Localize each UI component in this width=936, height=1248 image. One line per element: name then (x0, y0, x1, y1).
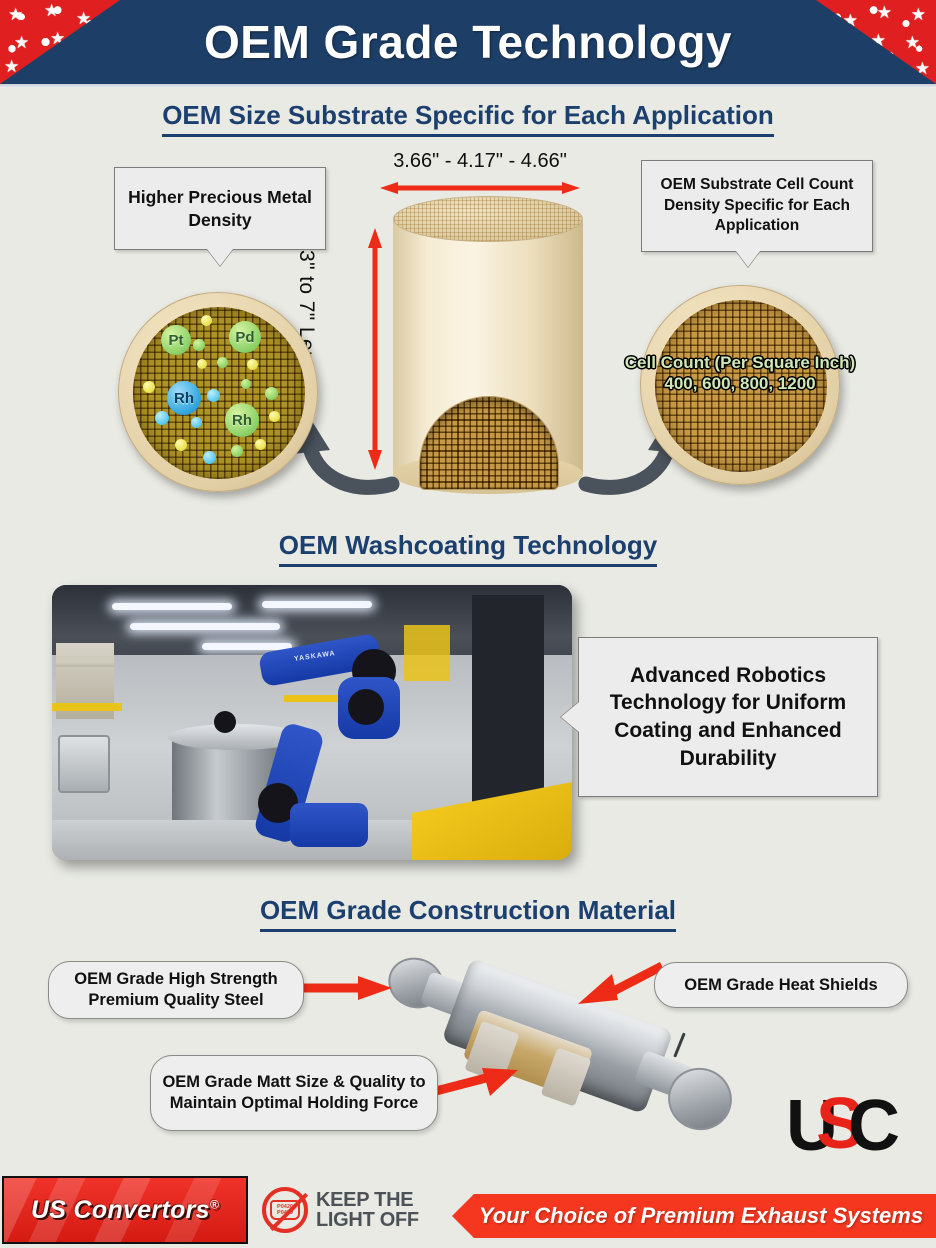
callout-tail (736, 251, 760, 267)
particle-dot (269, 411, 280, 422)
particle-dot (175, 439, 187, 451)
us-convertors-logo: US Convertors® (2, 1176, 248, 1244)
photo-shelf (404, 625, 450, 681)
photo-light (262, 601, 372, 608)
cylinder-honeycomb-top (393, 196, 583, 242)
photo-light (130, 623, 280, 630)
keep-badge-line1: KEEP THE (316, 1190, 419, 1210)
footer-tagline-text: Your Choice of Premium Exhaust Systems (465, 1203, 923, 1229)
particle-dot (217, 357, 228, 368)
callout-tail (561, 702, 579, 732)
callout-text: Advanced Robotics Technology for Uniform… (589, 662, 867, 773)
particle-rh-blue: Rh (167, 381, 201, 415)
particle-dot (191, 417, 202, 428)
dimension-width-arrow (380, 182, 580, 194)
footer-tagline-banner: Your Choice of Premium Exhaust Systems (452, 1194, 936, 1238)
red-arrow-to-steel (300, 976, 392, 1000)
callout-text: OEM Grade Heat Shields (684, 976, 877, 995)
robot-base (290, 803, 368, 847)
particle-dot (207, 389, 220, 402)
particle-pd: Pd (229, 321, 261, 353)
section-heading-washcoating-text: OEM Washcoating Technology (279, 530, 657, 567)
particle-dot (203, 451, 216, 464)
no-check-engine-light-icon: P0420 P0430 (262, 1187, 308, 1233)
callout-text: OEM Grade High Strength Premium Quality … (59, 969, 293, 1011)
photo-safety-rail (52, 703, 122, 711)
keep-the-light-off-badge: P0420 P0430 KEEP THE LIGHT OFF (262, 1184, 442, 1236)
callout-heat-shields: OEM Grade Heat Shields (654, 962, 908, 1008)
precious-metal-density-circle: Pt Pd Rh Rh (118, 292, 318, 492)
usc-logo-c: C (848, 1090, 900, 1162)
photo-safety-rail (284, 695, 342, 702)
particle-dot (201, 315, 212, 326)
robot-cable-joint (214, 711, 236, 733)
particle-rh-green: Rh (225, 403, 259, 437)
section-heading-size: OEM Size Substrate Specific for Each App… (0, 100, 936, 137)
infographic-page: ★ ★ ★ ★ ★ ★ ★ ★ ★ ★ ★ ★ ★ ★ OEM Grade Te… (0, 0, 936, 1248)
keep-badge-text: KEEP THE LIGHT OFF (316, 1190, 419, 1231)
section-heading-construction-text: OEM Grade Construction Material (260, 895, 676, 932)
callout-oem-substrate-cell-count: OEM Substrate Cell Count Density Specifi… (641, 160, 873, 252)
particle-dot (247, 359, 258, 370)
photo-pallet (56, 661, 114, 667)
page-header: ★ ★ ★ ★ ★ ★ ★ ★ ★ ★ ★ ★ ★ ★ OEM Grade Te… (0, 0, 936, 84)
red-arrow-to-mat (432, 1066, 518, 1102)
registered-mark: ® (210, 1197, 219, 1211)
section-heading-washcoating: OEM Washcoating Technology (0, 530, 936, 567)
header-divider (0, 84, 936, 88)
callout-matt-size-quality: OEM Grade Matt Size & Quality to Maintai… (150, 1055, 438, 1131)
cell-count-line2: 400, 600, 800, 1200 (600, 373, 880, 394)
section-heading-size-text: OEM Size Substrate Specific for Each App… (162, 100, 774, 137)
callout-text: OEM Substrate Cell Count Density Specifi… (650, 175, 864, 238)
particle-dot (155, 411, 169, 425)
page-footer: US Convertors® P0420 P0430 KEEP THE LIGH… (0, 1174, 936, 1248)
cell-count-overlay: Cell Count (Per Square Inch) 400, 600, 8… (600, 352, 880, 395)
particle-pt: Pt (161, 325, 191, 355)
callout-advanced-robotics: Advanced Robotics Technology for Uniform… (578, 637, 878, 797)
callout-high-strength-steel: OEM Grade High Strength Premium Quality … (48, 961, 304, 1019)
oxygen-sensor-wire (673, 1032, 686, 1057)
callout-text: OEM Grade Matt Size & Quality to Maintai… (161, 1072, 427, 1114)
particle-dot (143, 381, 155, 393)
photo-light (112, 603, 232, 610)
particle-dot (231, 445, 243, 457)
particle-dot (241, 379, 251, 389)
usc-logo: U S C (786, 1090, 916, 1164)
particle-dot (255, 439, 266, 450)
robot-joint (348, 689, 384, 725)
dimension-width-label: 3.66" - 4.17" - 4.66" (360, 150, 600, 173)
washcoating-robot-photo: YASKAWA (52, 585, 572, 860)
cell-count-line1: Cell Count (Per Square Inch) (600, 352, 880, 373)
brand-name: US Convertors (31, 1196, 210, 1224)
page-title: OEM Grade Technology (0, 0, 936, 84)
callout-tail (207, 249, 233, 266)
callout-higher-precious-metal-density: Higher Precious Metal Density (114, 167, 326, 250)
particle-dot (193, 339, 205, 351)
red-arrow-to-heat-shields (578, 960, 664, 1006)
particle-dot (265, 387, 278, 400)
us-convertors-logo-text: US Convertors® (31, 1196, 219, 1225)
photo-control-monitor (58, 735, 110, 793)
particle-dot (197, 359, 207, 369)
substrate-cylinder-illustration (393, 196, 583, 494)
section-heading-construction: OEM Grade Construction Material (0, 895, 936, 932)
callout-text: Higher Precious Metal Density (121, 186, 319, 232)
keep-badge-line2: LIGHT OFF (316, 1210, 419, 1230)
